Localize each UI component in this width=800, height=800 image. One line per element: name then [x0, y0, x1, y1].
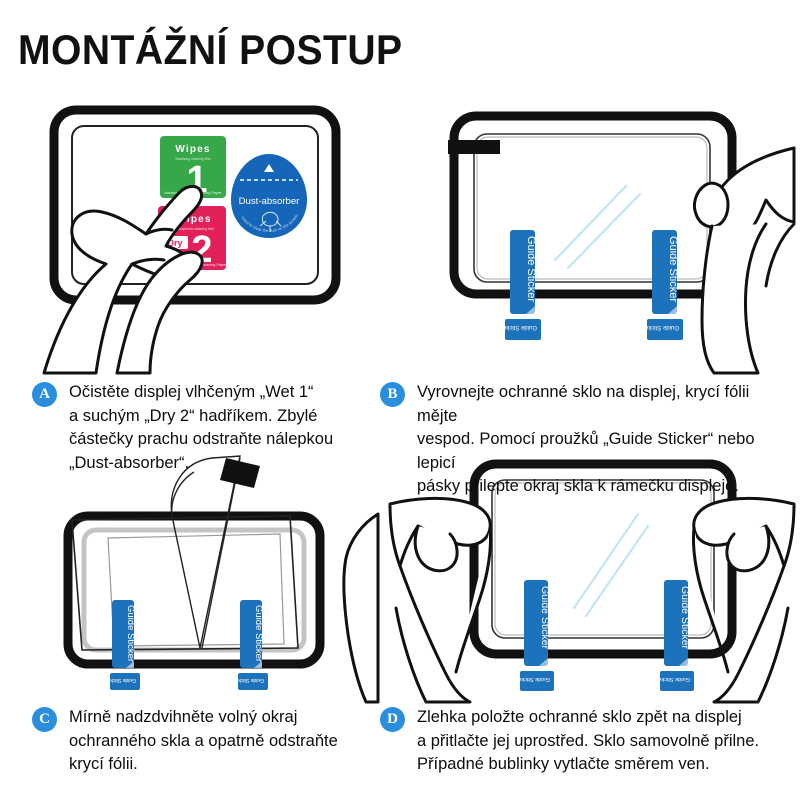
step-badge-d: D: [380, 707, 405, 732]
figure-step-c: Guide Sticker Guide Sticker Guide Sticke…: [22, 452, 378, 702]
guide-sticker-tab-label: Guide Sticker: [656, 676, 690, 682]
guide-sticker-tab-label: Guide Sticker: [234, 677, 264, 683]
step-text-b: Vyrovnejte ochranné sklo na displej, kry…: [417, 381, 790, 499]
guide-sticker-tab-label: Guide Sticker: [516, 676, 550, 682]
guide-sticker-label: Guide Sticker: [525, 236, 537, 302]
guide-sticker-tab-label: Guide Sticker: [643, 324, 679, 330]
step-text-a: Očistěte displej vlhčeným „Wet 1“ a such…: [69, 381, 333, 475]
film-pull-tab-b: [448, 140, 500, 154]
guide-sticker-tab-label: Guide Sticker: [106, 677, 136, 683]
caption-step-d: D Zlehka položte ochranné sklo zpět na d…: [380, 706, 790, 777]
guide-sticker-label: Guide Sticker: [679, 586, 691, 650]
hand-illustration-c: [344, 514, 378, 702]
guide-sticker-label: Guide Sticker: [253, 605, 264, 662]
step-text-d: Zlehka položte ochranné sklo zpět na dis…: [417, 706, 759, 777]
wipes-label-wet: Wipes: [175, 144, 210, 155]
step-badge-c: C: [32, 707, 57, 732]
instruction-sheet: MONTÁŽNÍ POSTUP Wipes Sanitizing cleanin…: [0, 0, 800, 800]
caption-step-a: A Očistěte displej vlhčeným „Wet 1“ a su…: [32, 381, 372, 475]
caption-step-c: C Mírně nadzdvihněte volný okraj ochrann…: [32, 706, 372, 777]
step-badge-b: B: [380, 382, 405, 407]
hand-illustration-d-right: [693, 498, 794, 702]
figure-step-b: Guide Sticker Guide Sticker Guide Sticke…: [398, 88, 794, 373]
figure-step-a: Wipes Sanitizing cleaning Wet 1 Advanced…: [22, 88, 378, 373]
guide-sticker-label: Guide Sticker: [667, 236, 679, 302]
guide-sticker-tab-label: Guide Sticker: [501, 324, 537, 330]
page-title: MONTÁŽNÍ POSTUP: [18, 26, 403, 74]
step-badge-a: A: [32, 382, 57, 407]
guide-sticker-label: Guide Sticker: [539, 586, 551, 650]
caption-step-b: B Vyrovnejte ochranné sklo na displej, k…: [380, 381, 790, 499]
step-text-c: Mírně nadzdvihněte volný okraj ochrannéh…: [69, 706, 338, 777]
hand-illustration-d-left: [390, 498, 491, 702]
dust-absorber-label: Dust-absorber: [239, 196, 301, 207]
guide-sticker-label: Guide Sticker: [125, 605, 136, 662]
